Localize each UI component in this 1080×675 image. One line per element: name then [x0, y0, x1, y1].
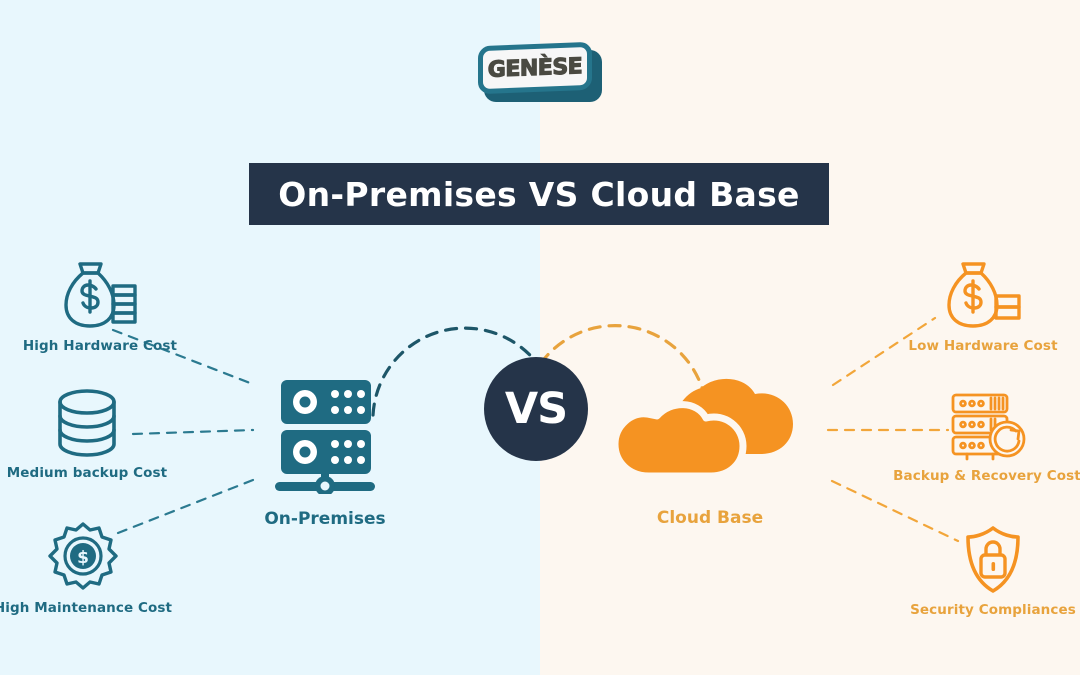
feature-label: High Maintenance Cost	[0, 600, 188, 616]
vs-badge: VS	[484, 357, 588, 461]
feature-security-compliances: Security Compliances	[888, 522, 1080, 618]
feature-high-maintenance-cost: $ High Maintenance Cost	[0, 520, 188, 616]
feature-label: Medium backup Cost	[0, 465, 192, 481]
page-title: On-Premises VS Cloud Base	[278, 175, 799, 214]
infographic-canvas: GENÈSE On-Premises VS Cloud Base High	[0, 0, 1080, 675]
vs-label: VS	[505, 384, 567, 434]
page-title-banner: On-Premises VS Cloud Base	[249, 163, 829, 225]
feature-low-hardware-cost: Low Hardware Cost	[878, 258, 1080, 354]
svg-text:$: $	[77, 548, 89, 568]
feature-backup-recovery-cost: Backup & Recovery Cost	[882, 388, 1080, 484]
feature-medium-backup-cost: Medium backup Cost	[0, 385, 192, 481]
server-rack-icon	[220, 374, 430, 499]
shield-lock-icon	[888, 522, 1080, 598]
feature-label: Backup & Recovery Cost	[882, 468, 1080, 484]
feature-high-hardware-cost: High Hardware Cost	[0, 258, 205, 354]
gear-dollar-icon: $	[0, 520, 188, 596]
cloud-base-node: Cloud Base	[605, 370, 815, 528]
on-premises-node: On-Premises	[220, 374, 430, 529]
feature-label: High Hardware Cost	[0, 338, 205, 354]
money-bag-coins-icon	[878, 258, 1080, 334]
feature-label: Security Compliances	[888, 602, 1080, 618]
cloud-base-label: Cloud Base	[605, 508, 815, 528]
logo-plate: GENÈSE	[478, 42, 592, 94]
feature-label: Low Hardware Cost	[878, 338, 1080, 354]
server-refresh-icon	[882, 388, 1080, 464]
money-bag-coins-icon	[0, 258, 205, 334]
database-cylinder-icon	[0, 385, 192, 461]
logo-text: GENÈSE	[488, 54, 582, 83]
brand-logo[interactable]: GENÈSE	[478, 44, 602, 102]
cloud-icon	[605, 370, 815, 500]
on-premises-label: On-Premises	[220, 509, 430, 529]
